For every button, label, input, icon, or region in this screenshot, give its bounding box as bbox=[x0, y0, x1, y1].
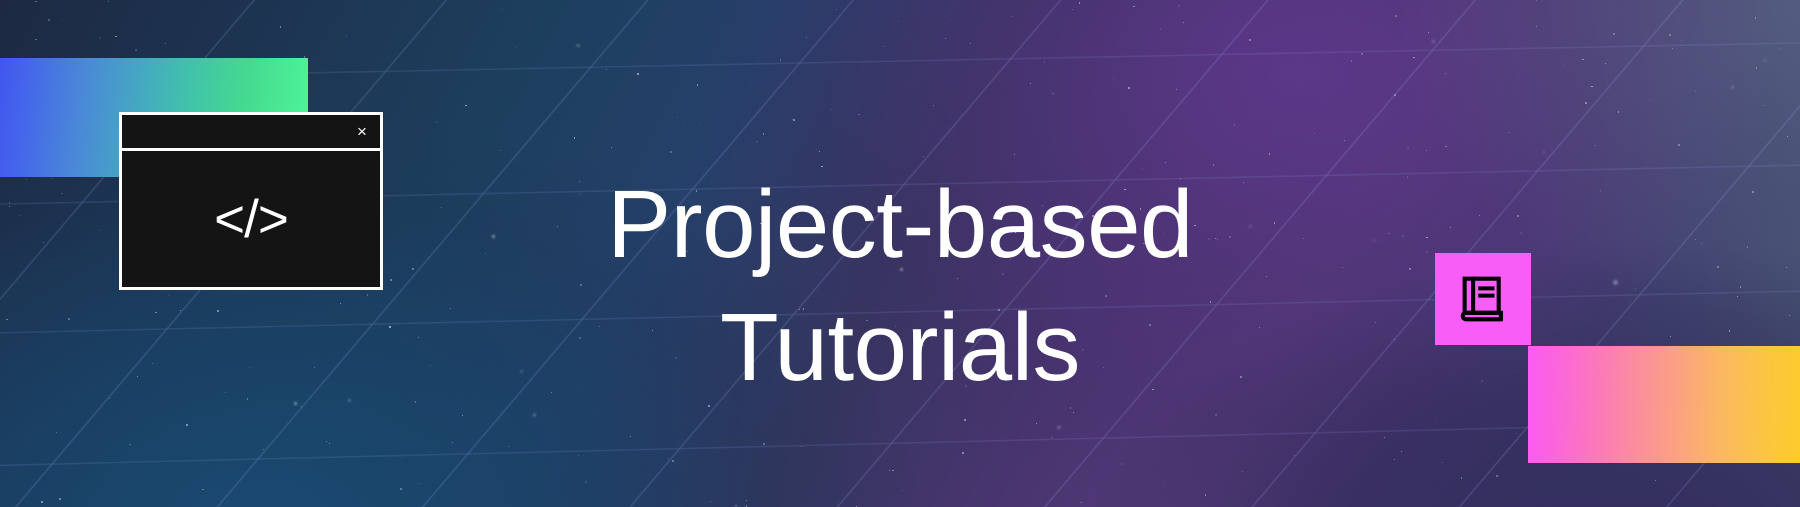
star-dot bbox=[1516, 433, 1517, 434]
star-dot bbox=[1394, 459, 1395, 460]
star-dot bbox=[1432, 40, 1435, 43]
star-dot bbox=[1401, 451, 1402, 452]
star-dot bbox=[1178, 5, 1180, 7]
close-icon[interactable]: × bbox=[353, 123, 371, 141]
star-dot bbox=[883, 46, 884, 47]
star-dot bbox=[576, 44, 579, 47]
star-dot bbox=[1072, 9, 1073, 10]
star-dot bbox=[419, 483, 420, 484]
star-dot bbox=[710, 501, 711, 502]
code-window-titlebar: × bbox=[122, 115, 380, 151]
star-dot bbox=[862, 497, 863, 498]
star-dot bbox=[263, 449, 264, 450]
star-dot bbox=[1269, 153, 1270, 154]
star-dot bbox=[697, 84, 698, 85]
star-dot bbox=[62, 20, 63, 21]
star-dot bbox=[1361, 53, 1363, 55]
star-dot bbox=[970, 43, 971, 44]
star-dot bbox=[1564, 65, 1565, 66]
star-dot bbox=[672, 460, 673, 461]
star-dot bbox=[1591, 86, 1592, 87]
star-dot bbox=[1618, 111, 1619, 112]
star-dot bbox=[923, 156, 924, 157]
star-dot bbox=[1133, 6, 1134, 7]
star-dot bbox=[898, 21, 899, 22]
book-icon-tile bbox=[1435, 253, 1531, 345]
star-dot bbox=[1613, 33, 1615, 35]
star-dot bbox=[1351, 60, 1352, 61]
star-dot bbox=[1314, 133, 1315, 134]
star-dot bbox=[1780, 48, 1781, 49]
star-dot bbox=[1344, 140, 1345, 141]
star-dot bbox=[1394, 94, 1396, 96]
star-dot bbox=[280, 26, 281, 27]
star-dot bbox=[1445, 73, 1446, 74]
star-dot bbox=[400, 488, 401, 489]
star-dot bbox=[1036, 423, 1037, 424]
star-dot bbox=[35, 39, 36, 40]
star-dot bbox=[735, 505, 736, 506]
star-dot bbox=[1051, 437, 1052, 438]
star-dot bbox=[1649, 99, 1650, 100]
star-dot bbox=[326, 441, 327, 442]
star-dot bbox=[1242, 471, 1243, 472]
star-dot bbox=[793, 119, 795, 121]
star-dot bbox=[756, 141, 757, 142]
star-dot bbox=[135, 49, 137, 51]
star-dot bbox=[1787, 136, 1788, 137]
star-dot bbox=[892, 470, 893, 471]
star-dot bbox=[1293, 3, 1294, 4]
star-dot bbox=[1073, 412, 1074, 413]
star-dot bbox=[1183, 22, 1184, 23]
star-dot bbox=[1014, 154, 1015, 155]
star-dot bbox=[533, 413, 536, 416]
star-dot bbox=[115, 36, 116, 37]
star-dot bbox=[1536, 26, 1537, 27]
star-dot bbox=[56, 432, 57, 433]
star-dot bbox=[1205, 494, 1206, 495]
star-dot bbox=[1395, 15, 1397, 17]
star-dot bbox=[35, 1, 36, 2]
pink-yellow-gradient-bar bbox=[1528, 346, 1800, 463]
star-dot bbox=[1160, 28, 1161, 29]
star-dot bbox=[1585, 102, 1587, 104]
star-dot bbox=[1582, 59, 1583, 60]
star-dot bbox=[1176, 89, 1177, 90]
star-dot bbox=[945, 38, 946, 39]
star-dot bbox=[1011, 16, 1012, 17]
star-dot bbox=[1301, 496, 1302, 497]
star-dot bbox=[1605, 63, 1606, 64]
star-dot bbox=[1763, 59, 1766, 62]
star-dot bbox=[668, 458, 669, 459]
star-dot bbox=[1113, 78, 1114, 79]
star-dot bbox=[578, 455, 579, 456]
star-dot bbox=[1234, 124, 1235, 125]
star-dot bbox=[1442, 462, 1443, 463]
star-dot bbox=[670, 151, 672, 153]
star-dot bbox=[1755, 17, 1756, 18]
star-dot bbox=[819, 151, 820, 152]
star-dot bbox=[1052, 93, 1053, 94]
star-dot bbox=[129, 444, 130, 445]
star-dot bbox=[1413, 57, 1414, 58]
star-dot bbox=[1384, 437, 1385, 438]
star-dot bbox=[202, 489, 203, 490]
star-dot bbox=[677, 117, 678, 118]
star-dot bbox=[746, 505, 747, 506]
star-dot bbox=[1594, 145, 1595, 146]
star-dot bbox=[1057, 426, 1060, 429]
book-icon bbox=[1454, 270, 1512, 328]
star-dot bbox=[1044, 61, 1045, 62]
star-dot bbox=[951, 19, 952, 20]
star-dot bbox=[801, 446, 802, 447]
star-dot bbox=[502, 9, 503, 10]
star-dot bbox=[515, 47, 516, 48]
star-dot bbox=[1249, 39, 1251, 41]
star-dot bbox=[630, 436, 631, 437]
star-dot bbox=[329, 443, 330, 444]
star-dot bbox=[346, 36, 347, 37]
star-dot bbox=[1421, 8, 1422, 9]
star-dot bbox=[780, 59, 781, 60]
star-dot bbox=[1215, 414, 1217, 416]
star-dot bbox=[430, 451, 431, 452]
star-dot bbox=[1165, 162, 1166, 163]
star-dot bbox=[1496, 475, 1497, 476]
star-dot bbox=[1445, 146, 1446, 147]
star-dot bbox=[574, 137, 575, 138]
star-dot bbox=[165, 43, 166, 44]
star-dot bbox=[746, 500, 747, 501]
star-dot bbox=[462, 415, 463, 416]
star-dot bbox=[1080, 502, 1081, 503]
star-dot bbox=[902, 490, 903, 491]
star-dot bbox=[683, 125, 684, 126]
star-dot bbox=[1121, 463, 1122, 464]
star-dot bbox=[436, 122, 437, 123]
star-dot bbox=[500, 150, 501, 151]
star-dot bbox=[108, 1, 109, 2]
star-dot bbox=[402, 457, 403, 458]
star-dot bbox=[1655, 480, 1656, 481]
star-dot bbox=[99, 37, 101, 39]
star-dot bbox=[763, 133, 764, 134]
star-dot bbox=[962, 452, 964, 454]
star-dot bbox=[1681, 40, 1682, 41]
tutorials-hero-banner: × </> Project-based Tutorials bbox=[0, 0, 1800, 507]
star-dot bbox=[964, 419, 966, 421]
star-dot bbox=[1428, 32, 1429, 33]
star-dot bbox=[1763, 105, 1764, 106]
star-dot bbox=[1164, 482, 1165, 483]
star-dot bbox=[1426, 150, 1427, 151]
star-dot bbox=[1030, 83, 1031, 84]
star-dot bbox=[1672, 48, 1673, 49]
star-dot bbox=[1756, 67, 1757, 68]
star-dot bbox=[186, 424, 188, 426]
star-dot bbox=[1079, 2, 1080, 3]
star-dot bbox=[763, 443, 765, 445]
star-dot bbox=[700, 124, 701, 125]
star-dot bbox=[1461, 477, 1462, 478]
star-dot bbox=[1678, 144, 1680, 146]
star-dot bbox=[806, 37, 807, 38]
star-dot bbox=[1536, 0, 1537, 1]
star-dot bbox=[1543, 151, 1545, 153]
star-dot bbox=[606, 69, 607, 70]
star-dot bbox=[637, 73, 638, 74]
star-dot bbox=[831, 109, 832, 110]
star-dot bbox=[508, 446, 509, 447]
star-dot bbox=[1669, 34, 1671, 36]
star-dot bbox=[465, 105, 466, 106]
star-dot bbox=[858, 114, 859, 115]
star-dot bbox=[48, 19, 50, 21]
star-dot bbox=[1695, 90, 1696, 91]
star-dot bbox=[857, 111, 858, 112]
star-dot bbox=[1731, 86, 1734, 89]
star-dot bbox=[59, 498, 61, 500]
star-dot bbox=[1508, 132, 1509, 133]
star-dot bbox=[889, 470, 890, 471]
star-dot bbox=[1436, 420, 1437, 421]
star-dot bbox=[41, 501, 43, 503]
star-dot bbox=[585, 481, 587, 483]
star-dot bbox=[933, 105, 934, 106]
star-dot bbox=[452, 442, 453, 443]
star-dot bbox=[1294, 455, 1295, 456]
star-dot bbox=[836, 9, 837, 10]
star-dot bbox=[1128, 87, 1130, 89]
star-dot bbox=[611, 147, 612, 148]
star-dot bbox=[1407, 147, 1409, 149]
